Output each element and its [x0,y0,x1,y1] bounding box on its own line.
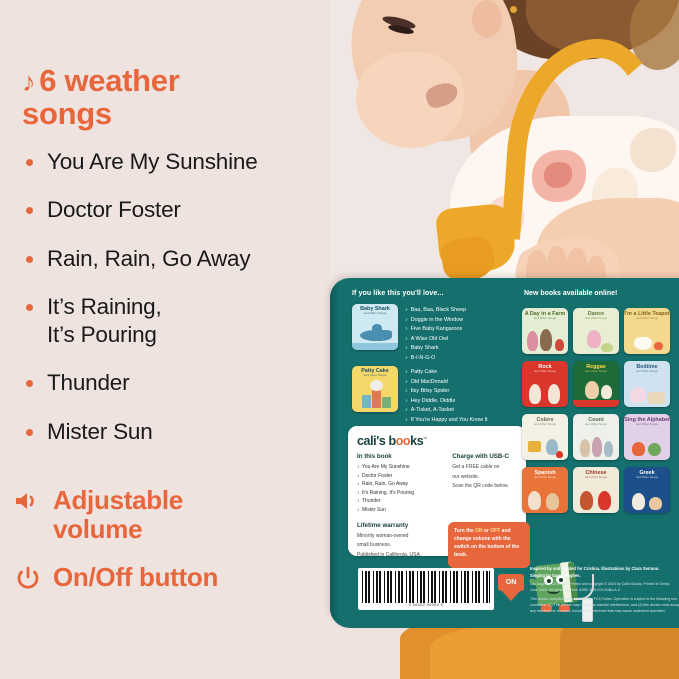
grid-book-count[interactable]: Countand Other Songs [573,414,619,460]
bullet-icon [26,159,33,166]
warranty-heading: Lifetime warranty [357,522,442,529]
list-item: Doggie in the Window [405,316,466,326]
list-item: A-Tisket, A-Tasket [405,406,488,416]
list-item: B-I-N-G-O [405,354,466,364]
charge-line: Get a FREE cable on [452,463,517,472]
promo-cover-art [352,378,398,412]
promo-track-list: Patty Cake Old MacDonald Itsy Bitsy Spid… [405,366,488,426]
credits-line: Inspired by and created for Cristina. Il… [530,566,679,573]
bubble-off: OFF [490,528,500,534]
promo-cover-patty-cake[interactable]: Patty Cake and Other Songs [352,366,398,412]
legal-text: Inspired by and created for Cristina. Il… [530,566,679,614]
song-title: Rain, Rain, Go Away [47,245,250,272]
song-title: Mister Sun [47,418,153,445]
power-icon [14,566,42,592]
list-item: Mister Sun [26,418,332,445]
grid-book-rock[interactable]: Rockand Other Songs [522,361,568,407]
list-item: Rain, Rain, Go Away [26,245,332,272]
song-list: You Are My Sunshine Doctor Foster Rain, … [26,148,332,466]
bullet-icon [26,429,33,436]
list-item: It’s Raining, It’s Pouring [26,293,332,348]
headline-line-2: songs [22,96,112,131]
feature-adjustable-volume: Adjustable volume [14,486,314,543]
list-item: Patty Cake [405,368,488,378]
list-item: If You're Happy and You Know It [405,416,488,426]
legal-rights: June 2024. All rights reserved. ASIN: 00… [530,588,679,594]
list-item: Old MacDonald [405,378,488,388]
promo-heading-right: New books available online! [524,290,617,297]
list-item: Thunder [357,497,442,506]
promo-row: Baby Shark and Other Songs Baa, Baa, Bla… [352,304,466,364]
grid-book-greek[interactable]: Greekand Other Songs [624,467,670,513]
grid-book-bedtime[interactable]: Bedtimeand Other Songs [624,361,670,407]
list-item: It's Raining, It's Pouring [357,489,442,498]
list-item: Itsy Bitsy Spider [405,387,488,397]
music-note-icon: ♪ [22,67,35,97]
feature-on-off-button: On/Off button [14,563,314,592]
barcode-number: 0 00000 00000 0 [362,603,490,607]
barcode: 0 00000 00000 0 [358,568,494,610]
on-switch-arrow: ON [498,574,524,602]
grid-book-reggae[interactable]: Reggaeand Other Songs [573,361,619,407]
child-earring [510,6,517,13]
credits-line: Singing by Sarah Hughes. [530,573,679,580]
list-item: You Are My Sunshine [357,463,442,472]
grid-book-im-a-little-teapot[interactable]: I'm a Little Teapotand Other Songs [624,308,670,354]
charge-line: Scan the QR code below. [452,482,517,491]
barcode-lines [362,571,490,603]
instruction-callout-bubble: Turn the ON or OFF and change volume wit… [448,522,530,568]
brand-logo: cali's books™ [357,434,517,448]
feature-copy-panel: ♪6 weather songs You Are My Sunshine Doc… [0,0,332,679]
warranty-line: Published in California, USA. [357,551,442,560]
list-item: Doctor Foster [357,472,442,481]
grid-book-colors[interactable]: Colorsand Other Songs [522,414,568,460]
song-title: Doctor Foster [47,196,181,223]
headline: ♪6 weather songs [22,64,322,131]
grid-book-chinese[interactable]: Chineseand Other Songs [573,467,619,513]
on-label: ON [498,574,524,591]
grid-book-a-day-in-a-farm[interactable]: A Day in a Farmand Other Songs [522,308,568,354]
song-title: You Are My Sunshine [47,148,258,175]
book-edge [330,278,340,628]
list-item: Mister Sun [357,506,442,515]
grid-book-spanish[interactable]: Spanishand Other Songs [522,467,568,513]
bubble-on: ON [475,528,483,534]
in-this-book-heading: In this book [357,453,442,460]
arrow-tip-icon [502,591,520,601]
headline-line-1: 6 weather [39,63,179,98]
list-item: Hey Diddle, Diddle [405,397,488,407]
available-books-grid: A Day in a Farmand Other Songs Danceand … [522,308,679,513]
list-item: Thunder [26,369,332,396]
charge-line: our website. [452,473,517,482]
promo-cover-art [352,316,398,350]
song-title: It’s Raining, It’s Pouring [47,293,162,348]
grid-book-dance[interactable]: Danceand Other Songs [573,308,619,354]
song-title: Thunder [47,369,129,396]
speaker-volume-icon [14,489,42,513]
product-lifestyle-photo [330,0,679,300]
charge-heading: Charge with USB-C [452,453,517,460]
list-item: Doctor Foster [26,196,332,223]
list-item: A Wise Old Owl [405,335,466,345]
list-item: You Are My Sunshine [26,148,332,175]
warranty-line: Minority woman-owned [357,532,442,541]
list-item: Rain, Rain, Go Away [357,480,442,489]
list-item: Five Baby Kangaroos [405,325,466,335]
list-item: Baby Shark [405,344,466,354]
bullet-icon [26,256,33,263]
grid-book-sing-the-alphabet[interactable]: Sing the Alphabetand Other Songs [624,414,670,460]
legal-fcc: This device complies with part 15 of the… [530,597,679,614]
promo-row: Patty Cake and Other Songs Patty Cake Ol… [352,366,488,426]
child-ear [472,0,502,38]
bullet-icon [26,207,33,214]
promo-track-list: Baa, Baa, Black Sheep Doggie in the Wind… [405,304,466,364]
bullet-icon [26,304,33,311]
list-item: Baa, Baa, Black Sheep [405,306,466,316]
promo-cover-baby-shark[interactable]: Baby Shark and Other Songs [352,304,398,350]
promo-heading-left: If you like this you'll love... [352,290,444,297]
feature-label: On/Off button [53,563,218,592]
bullet-icon [26,380,33,387]
warranty-line: small business. [357,541,442,550]
in-this-book-list: You Are My Sunshine Doctor Foster Rain, … [357,463,442,515]
bubble-prefix: Turn the [454,528,475,534]
feature-label: Adjustable volume [53,486,183,543]
